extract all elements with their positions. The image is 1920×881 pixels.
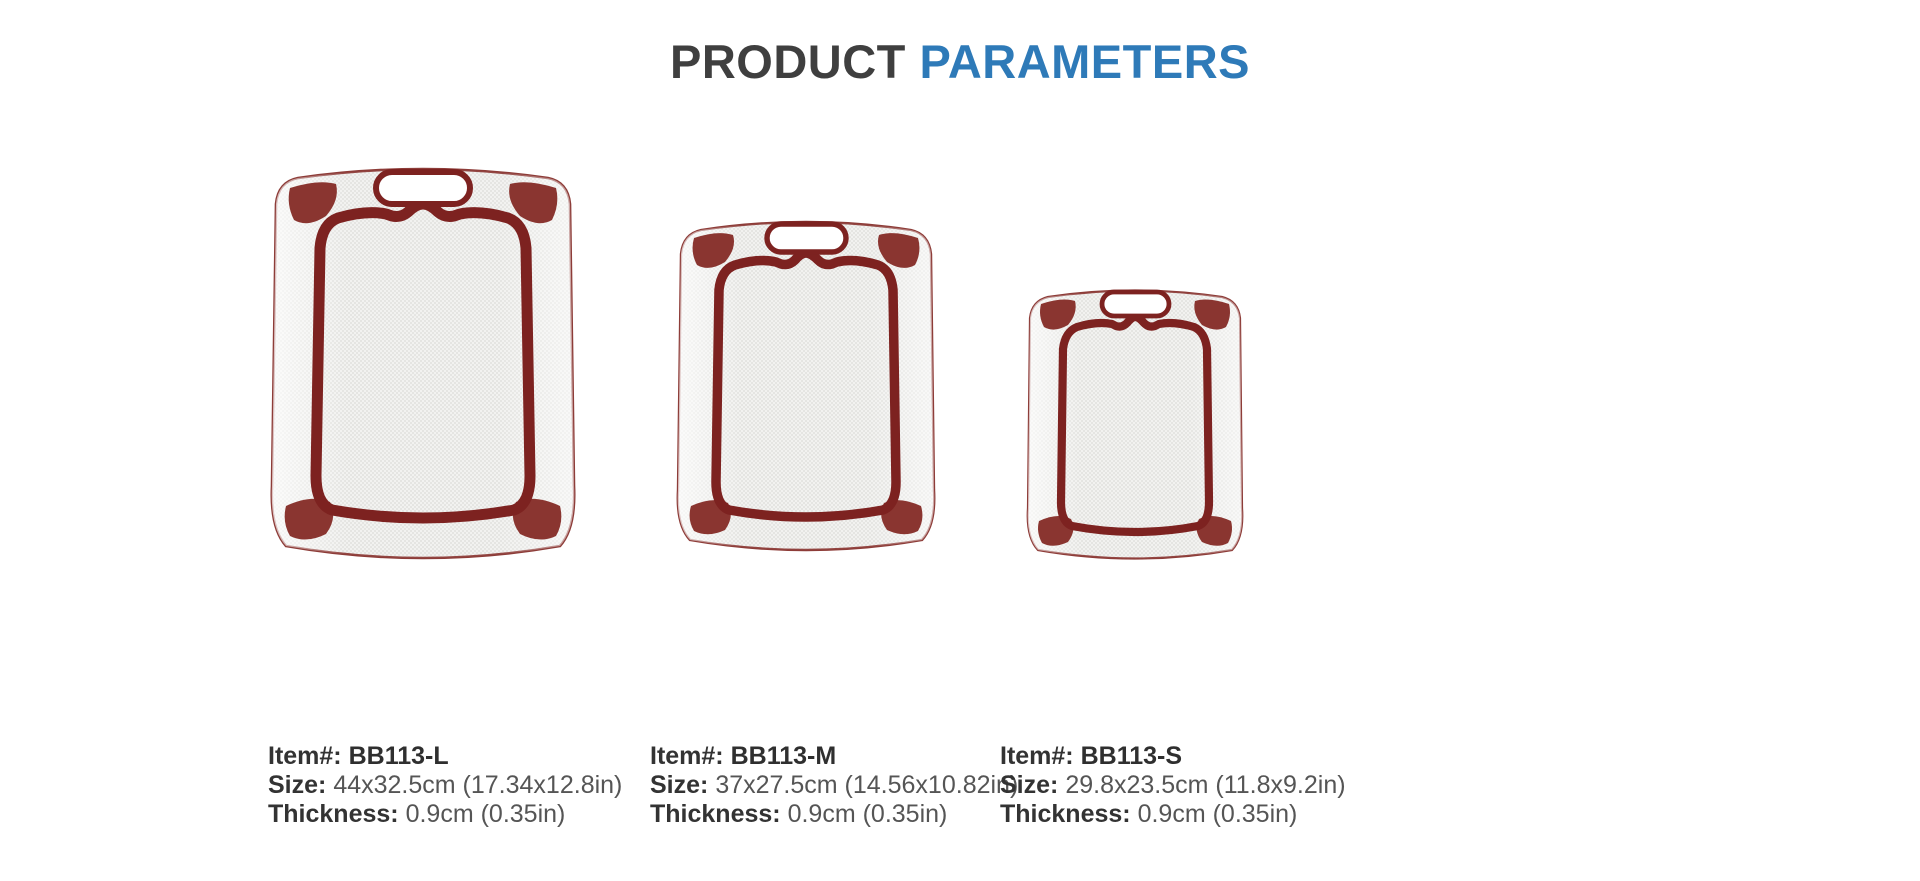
spec-item-large: Item#: BB113-L [268, 742, 622, 771]
spec-thickness-small: Thickness: 0.9cm (0.35in) [1000, 800, 1346, 829]
product-list: Item#: BB113-L Size: 44x32.5cm (17.34x12… [0, 0, 1920, 881]
handle-hole-large [376, 172, 470, 204]
item-value-large: BB113-L [349, 742, 449, 770]
item-label-small: Item#: [1000, 742, 1074, 770]
size-label-medium: Size: [650, 771, 708, 799]
item-label-large: Item#: [268, 742, 342, 770]
thickness-label-large: Thickness: [268, 800, 399, 828]
spec-thickness-medium: Thickness: 0.9cm (0.35in) [650, 800, 1018, 829]
thickness-label-medium: Thickness: [650, 800, 781, 828]
specs-small: Item#: BB113-S Size: 29.8x23.5cm (11.8x9… [1000, 742, 1346, 829]
spec-size-medium: Size: 37x27.5cm (14.56x10.82in) [650, 771, 1018, 800]
cutting-board-medium-illustration [675, 210, 937, 562]
spec-thickness-large: Thickness: 0.9cm (0.35in) [268, 800, 622, 829]
item-value-medium: BB113-M [731, 742, 837, 770]
cutting-board-small-illustration [1025, 280, 1245, 568]
thickness-value-small: 0.9cm (0.35in) [1138, 800, 1298, 828]
size-value-medium: 37x27.5cm (14.56x10.82in) [715, 771, 1018, 799]
size-label-small: Size: [1000, 771, 1058, 799]
cutting-board-large-illustration [268, 156, 578, 572]
product-parameters-page: PRODUCT PARAMETERS [0, 0, 1920, 881]
size-label-large: Size: [268, 771, 326, 799]
thickness-value-large: 0.9cm (0.35in) [406, 800, 566, 828]
spec-item-medium: Item#: BB113-M [650, 742, 1018, 771]
item-value-small: BB113-S [1081, 742, 1182, 770]
thickness-label-small: Thickness: [1000, 800, 1131, 828]
handle-hole-medium [767, 224, 846, 252]
handle-hole-small [1102, 292, 1169, 316]
item-label-medium: Item#: [650, 742, 724, 770]
specs-large: Item#: BB113-L Size: 44x32.5cm (17.34x12… [268, 742, 622, 829]
spec-size-small: Size: 29.8x23.5cm (11.8x9.2in) [1000, 771, 1346, 800]
spec-item-small: Item#: BB113-S [1000, 742, 1346, 771]
size-value-large: 44x32.5cm (17.34x12.8in) [333, 771, 622, 799]
spec-size-large: Size: 44x32.5cm (17.34x12.8in) [268, 771, 622, 800]
specs-medium: Item#: BB113-M Size: 37x27.5cm (14.56x10… [650, 742, 1018, 829]
size-value-small: 29.8x23.5cm (11.8x9.2in) [1065, 771, 1345, 799]
thickness-value-medium: 0.9cm (0.35in) [788, 800, 948, 828]
